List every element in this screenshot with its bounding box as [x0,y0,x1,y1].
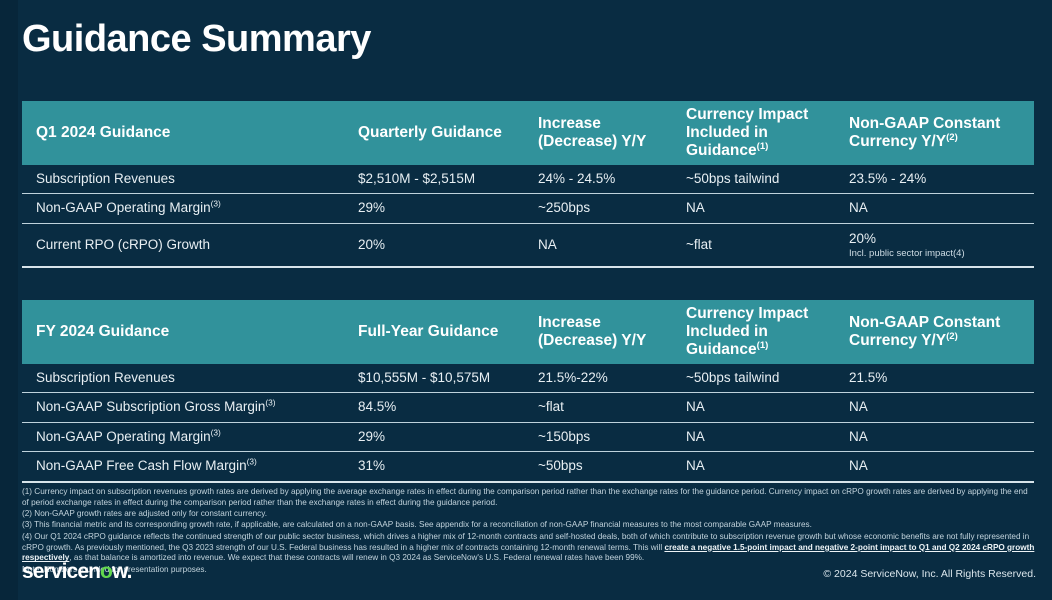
header-constant-line2: Currency Y/Y(2) [849,332,1028,350]
row-label-sup: (3) [247,457,257,467]
table-row: Current RPO (cRPO) Growth 20% NA ~flat 2… [22,224,1034,268]
fy-2024-guidance-table: FY 2024 Guidance Full-Year Guidance Incr… [22,300,1034,483]
header-increase-line2: (Decrease) Y/Y [538,332,680,350]
cell-increase: ~250bps [538,194,686,222]
cell-constant-currency: NA [849,423,1034,451]
row-label: Non-GAAP Subscription Gross Margin(3) [22,393,358,421]
cell-constant-currency: NA [849,452,1034,480]
header-constant-line2-text: Currency Y/Y [849,332,946,349]
header-increase-line1: Increase [538,314,680,332]
table-row: Subscription Revenues $2,510M - $2,515M … [22,165,1034,194]
footnotes-block: (1) Currency impact on subscription reve… [22,487,1036,576]
table-row: Non-GAAP Subscription Gross Margin(3) 84… [22,393,1034,422]
cell-currency-impact: NA [686,393,849,421]
copyright-text: © 2024 ServiceNow, Inc. All Rights Reser… [823,568,1036,580]
header-q1-2024-guidance: Q1 2024 Guidance [22,124,358,142]
row-label-text: Non-GAAP Subscription Gross Margin [36,399,265,414]
row-label-text: Non-GAAP Operating Margin [36,429,211,444]
footnote-marker-2: (2) [946,331,958,342]
header-increase-decrease: Increase (Decrease) Y/Y [538,314,686,350]
row-label: Non-GAAP Free Cash Flow Margin(3) [22,452,358,480]
cell-increase: ~50bps [538,452,686,480]
row-label: Current RPO (cRPO) Growth [22,231,358,259]
row-label: Subscription Revenues [22,364,358,392]
footnote-4: (4) Our Q1 2024 cRPO guidance reflects t… [22,532,1036,564]
header-constant-line2-text: Currency Y/Y [849,133,946,150]
footnote-marker-2: (2) [946,132,958,143]
table-row: Subscription Revenues $10,555M - $10,575… [22,364,1034,393]
footnote-marker-1: (1) [757,340,769,351]
header-currency-line2: Included in [686,323,843,341]
header-non-gaap-constant-currency: Non-GAAP Constant Currency Y/Y(2) [849,115,1034,151]
table-header-row: Q1 2024 Guidance Quarterly Guidance Incr… [22,101,1034,165]
cell-constant-currency: NA [849,194,1034,222]
cell-currency-impact: NA [686,194,849,222]
cell-increase: ~flat [538,393,686,421]
cell-increase: 21.5%-22% [538,364,686,392]
header-constant-line1: Non-GAAP Constant [849,314,1028,332]
header-currency-line1: Currency Impact [686,305,843,323]
cell-currency-impact: ~flat [686,231,849,259]
cell-constant-currency: 21.5% [849,364,1034,392]
cell-increase: ~150bps [538,423,686,451]
row-label-text: Subscription Revenues [36,171,175,186]
row-label-sup: (3) [211,427,221,437]
q1-2024-guidance-table: Q1 2024 Guidance Quarterly Guidance Incr… [22,101,1034,268]
logo-o-icon: o [100,560,112,583]
row-label-sup: (3) [211,199,221,209]
footnote-4-part2: , as that balance is amortized into reve… [69,553,644,562]
cell-increase: NA [538,231,686,259]
cell-guidance: 20% [358,231,538,259]
header-non-gaap-constant-currency: Non-GAAP Constant Currency Y/Y(2) [849,314,1034,350]
header-currency-line3-text: Guidance [686,142,757,159]
footnote-1: (1) Currency impact on subscription reve… [22,487,1036,509]
header-currency-line1: Currency Impact [686,106,843,124]
header-quarterly-guidance: Quarterly Guidance [358,124,538,142]
header-constant-line2: Currency Y/Y(2) [849,133,1028,151]
row-label: Non-GAAP Operating Margin(3) [22,423,358,451]
logo-part1: service [22,560,88,583]
header-increase-line2: (Decrease) Y/Y [538,133,680,151]
cell-constant-currency: 20% Incl. public sector impact(4) [849,225,1034,266]
header-currency-impact: Currency Impact Included in Guidance(1) [686,305,849,359]
header-fy-2024-guidance: FY 2024 Guidance [22,323,358,341]
header-increase-line1: Increase [538,115,680,133]
left-spine-decoration [0,0,18,600]
cell-guidance: 29% [358,423,538,451]
header-currency-line2: Included in [686,124,843,142]
header-currency-line3: Guidance(1) [686,341,843,359]
footnote-marker-1: (1) [757,141,769,152]
cell-currency-impact: NA [686,452,849,480]
cell-constant-currency-value: 20% [849,231,876,246]
header-full-year-guidance: Full-Year Guidance [358,323,538,341]
slide-root: Guidance Summary Q1 2024 Guidance Quarte… [0,0,1052,600]
cell-constant-currency: 23.5% - 24% [849,165,1034,193]
table-row: Non-GAAP Free Cash Flow Margin(3) 31% ~5… [22,452,1034,482]
cell-currency-impact: ~50bps tailwind [686,165,849,193]
row-label-text: Non-GAAP Free Cash Flow Margin [36,458,247,473]
row-label-text: Current RPO (cRPO) Growth [36,237,210,252]
table-header-row: FY 2024 Guidance Full-Year Guidance Incr… [22,300,1034,364]
page-title: Guidance Summary [22,18,371,61]
cell-currency-impact: ~50bps tailwind [686,364,849,392]
header-currency-impact: Currency Impact Included in Guidance(1) [686,106,849,160]
table-row: Non-GAAP Operating Margin(3) 29% ~250bps… [22,194,1034,223]
cell-guidance: $10,555M - $10,575M [358,364,538,392]
table-row: Non-GAAP Operating Margin(3) 29% ~150bps… [22,423,1034,452]
logo-dot: . [127,560,132,583]
cell-currency-impact: NA [686,423,849,451]
row-label: Non-GAAP Operating Margin(3) [22,194,358,222]
cell-guidance: $2,510M - $2,515M [358,165,538,193]
cell-increase: 24% - 24.5% [538,165,686,193]
row-label: Subscription Revenues [22,165,358,193]
row-label-sup: (3) [265,398,275,408]
logo-part2: w [112,560,127,583]
cell-guidance: 84.5% [358,393,538,421]
cell-guidance: 31% [358,452,538,480]
header-currency-line3: Guidance(1) [686,142,843,160]
servicenow-logo: servicenow. [22,560,132,584]
footnote-2: (2) Non-GAAP growth rates are adjusted o… [22,509,1036,520]
cell-constant-currency: NA [849,393,1034,421]
header-increase-decrease: Increase (Decrease) Y/Y [538,115,686,151]
header-constant-line1: Non-GAAP Constant [849,115,1028,133]
cell-guidance: 29% [358,194,538,222]
cell-constant-currency-note: Incl. public sector impact(4) [849,248,1028,259]
logo-n: n [88,560,100,583]
row-label-text: Non-GAAP Operating Margin [36,200,211,215]
header-currency-line3-text: Guidance [686,341,757,358]
footnote-3: (3) This financial metric and its corres… [22,520,1036,531]
row-label-text: Subscription Revenues [36,370,175,385]
